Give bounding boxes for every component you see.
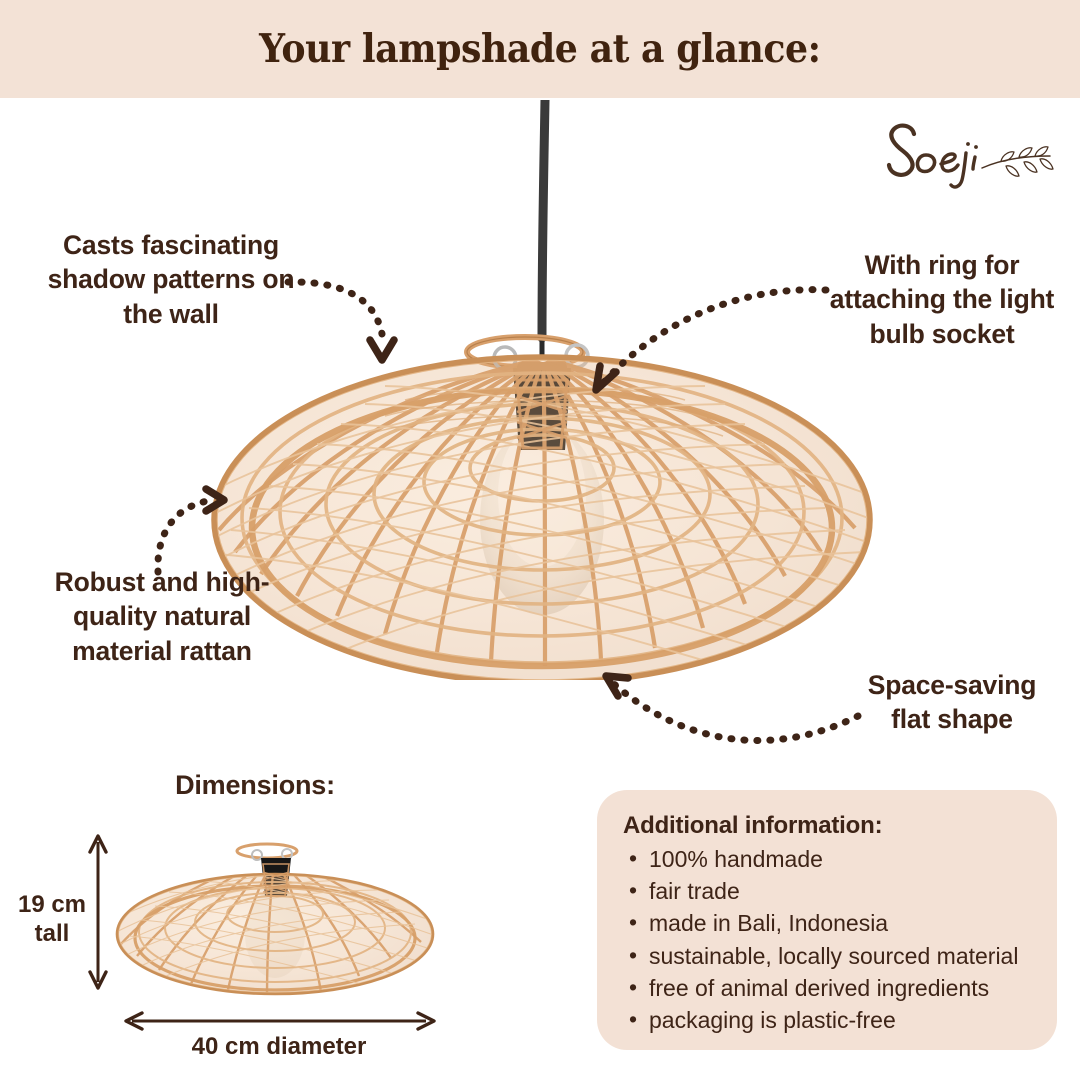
callout-ring-line-3: bulb socket xyxy=(818,317,1066,351)
callout-flat-line-2: flat shape xyxy=(852,702,1052,736)
dimension-height-label: 19 cm tall xyxy=(14,890,90,949)
list-item: packaging is plastic-free xyxy=(623,1004,1031,1036)
page-title: Your lampshade at a glance: xyxy=(259,26,820,72)
lamp-dimension-image xyxy=(115,826,440,998)
additional-information-card: Additional information: 100% handmade fa… xyxy=(597,790,1057,1050)
header-banner: Your lampshade at a glance: xyxy=(0,0,1080,98)
soeji-logo-icon xyxy=(862,112,1062,196)
additional-information-title: Additional information: xyxy=(623,812,1031,840)
callout-ring-line-1: With ring for xyxy=(818,248,1066,282)
list-item: free of animal derived ingredients xyxy=(623,972,1031,1004)
callout-shadow-patterns: Casts fascinating shadow patterns on the… xyxy=(26,228,316,331)
callout-flat-line-1: Space-saving xyxy=(852,668,1052,702)
list-item: fair trade xyxy=(623,875,1031,907)
power-cord-icon xyxy=(542,100,545,358)
callout-flat-shape: Space-saving flat shape xyxy=(852,668,1052,737)
infographic-page: Your lampshade at a glance: xyxy=(0,0,1080,1080)
dimension-height-arrow-icon xyxy=(90,836,106,988)
rattan-pendant-lamp-illustration xyxy=(205,100,880,680)
callout-rattan-line-3: material rattan xyxy=(42,634,282,668)
dimension-height-line-1: 19 cm xyxy=(14,890,90,919)
list-item: sustainable, locally sourced material xyxy=(623,940,1031,972)
callout-shadow-line-2: shadow patterns on xyxy=(26,262,316,296)
dimension-height-line-2: tall xyxy=(14,919,90,948)
rattan-pendant-lamp-small-illustration xyxy=(115,826,440,998)
additional-information-list: 100% handmade fair trade made in Bali, I… xyxy=(623,843,1031,1036)
dimension-width-label: 40 cm diameter xyxy=(126,1033,432,1061)
brand-logo xyxy=(862,112,1062,196)
dimensions-title: Dimensions: xyxy=(110,770,400,801)
dimension-width-arrow-icon xyxy=(126,1013,434,1029)
lamp-main-image xyxy=(205,100,880,680)
callout-rattan-material: Robust and high- quality natural materia… xyxy=(42,565,282,668)
callout-ring-socket: With ring for attaching the light bulb s… xyxy=(818,248,1066,351)
callout-shadow-line-3: the wall xyxy=(26,297,316,331)
arrow-flat-shape-icon xyxy=(606,676,858,741)
list-item: 100% handmade xyxy=(623,843,1031,875)
callout-rattan-line-1: Robust and high- xyxy=(42,565,282,599)
list-item: made in Bali, Indonesia xyxy=(623,907,1031,939)
callout-shadow-line-1: Casts fascinating xyxy=(26,228,316,262)
callout-ring-line-2: attaching the light xyxy=(818,282,1066,316)
callout-rattan-line-2: quality natural xyxy=(42,599,282,633)
